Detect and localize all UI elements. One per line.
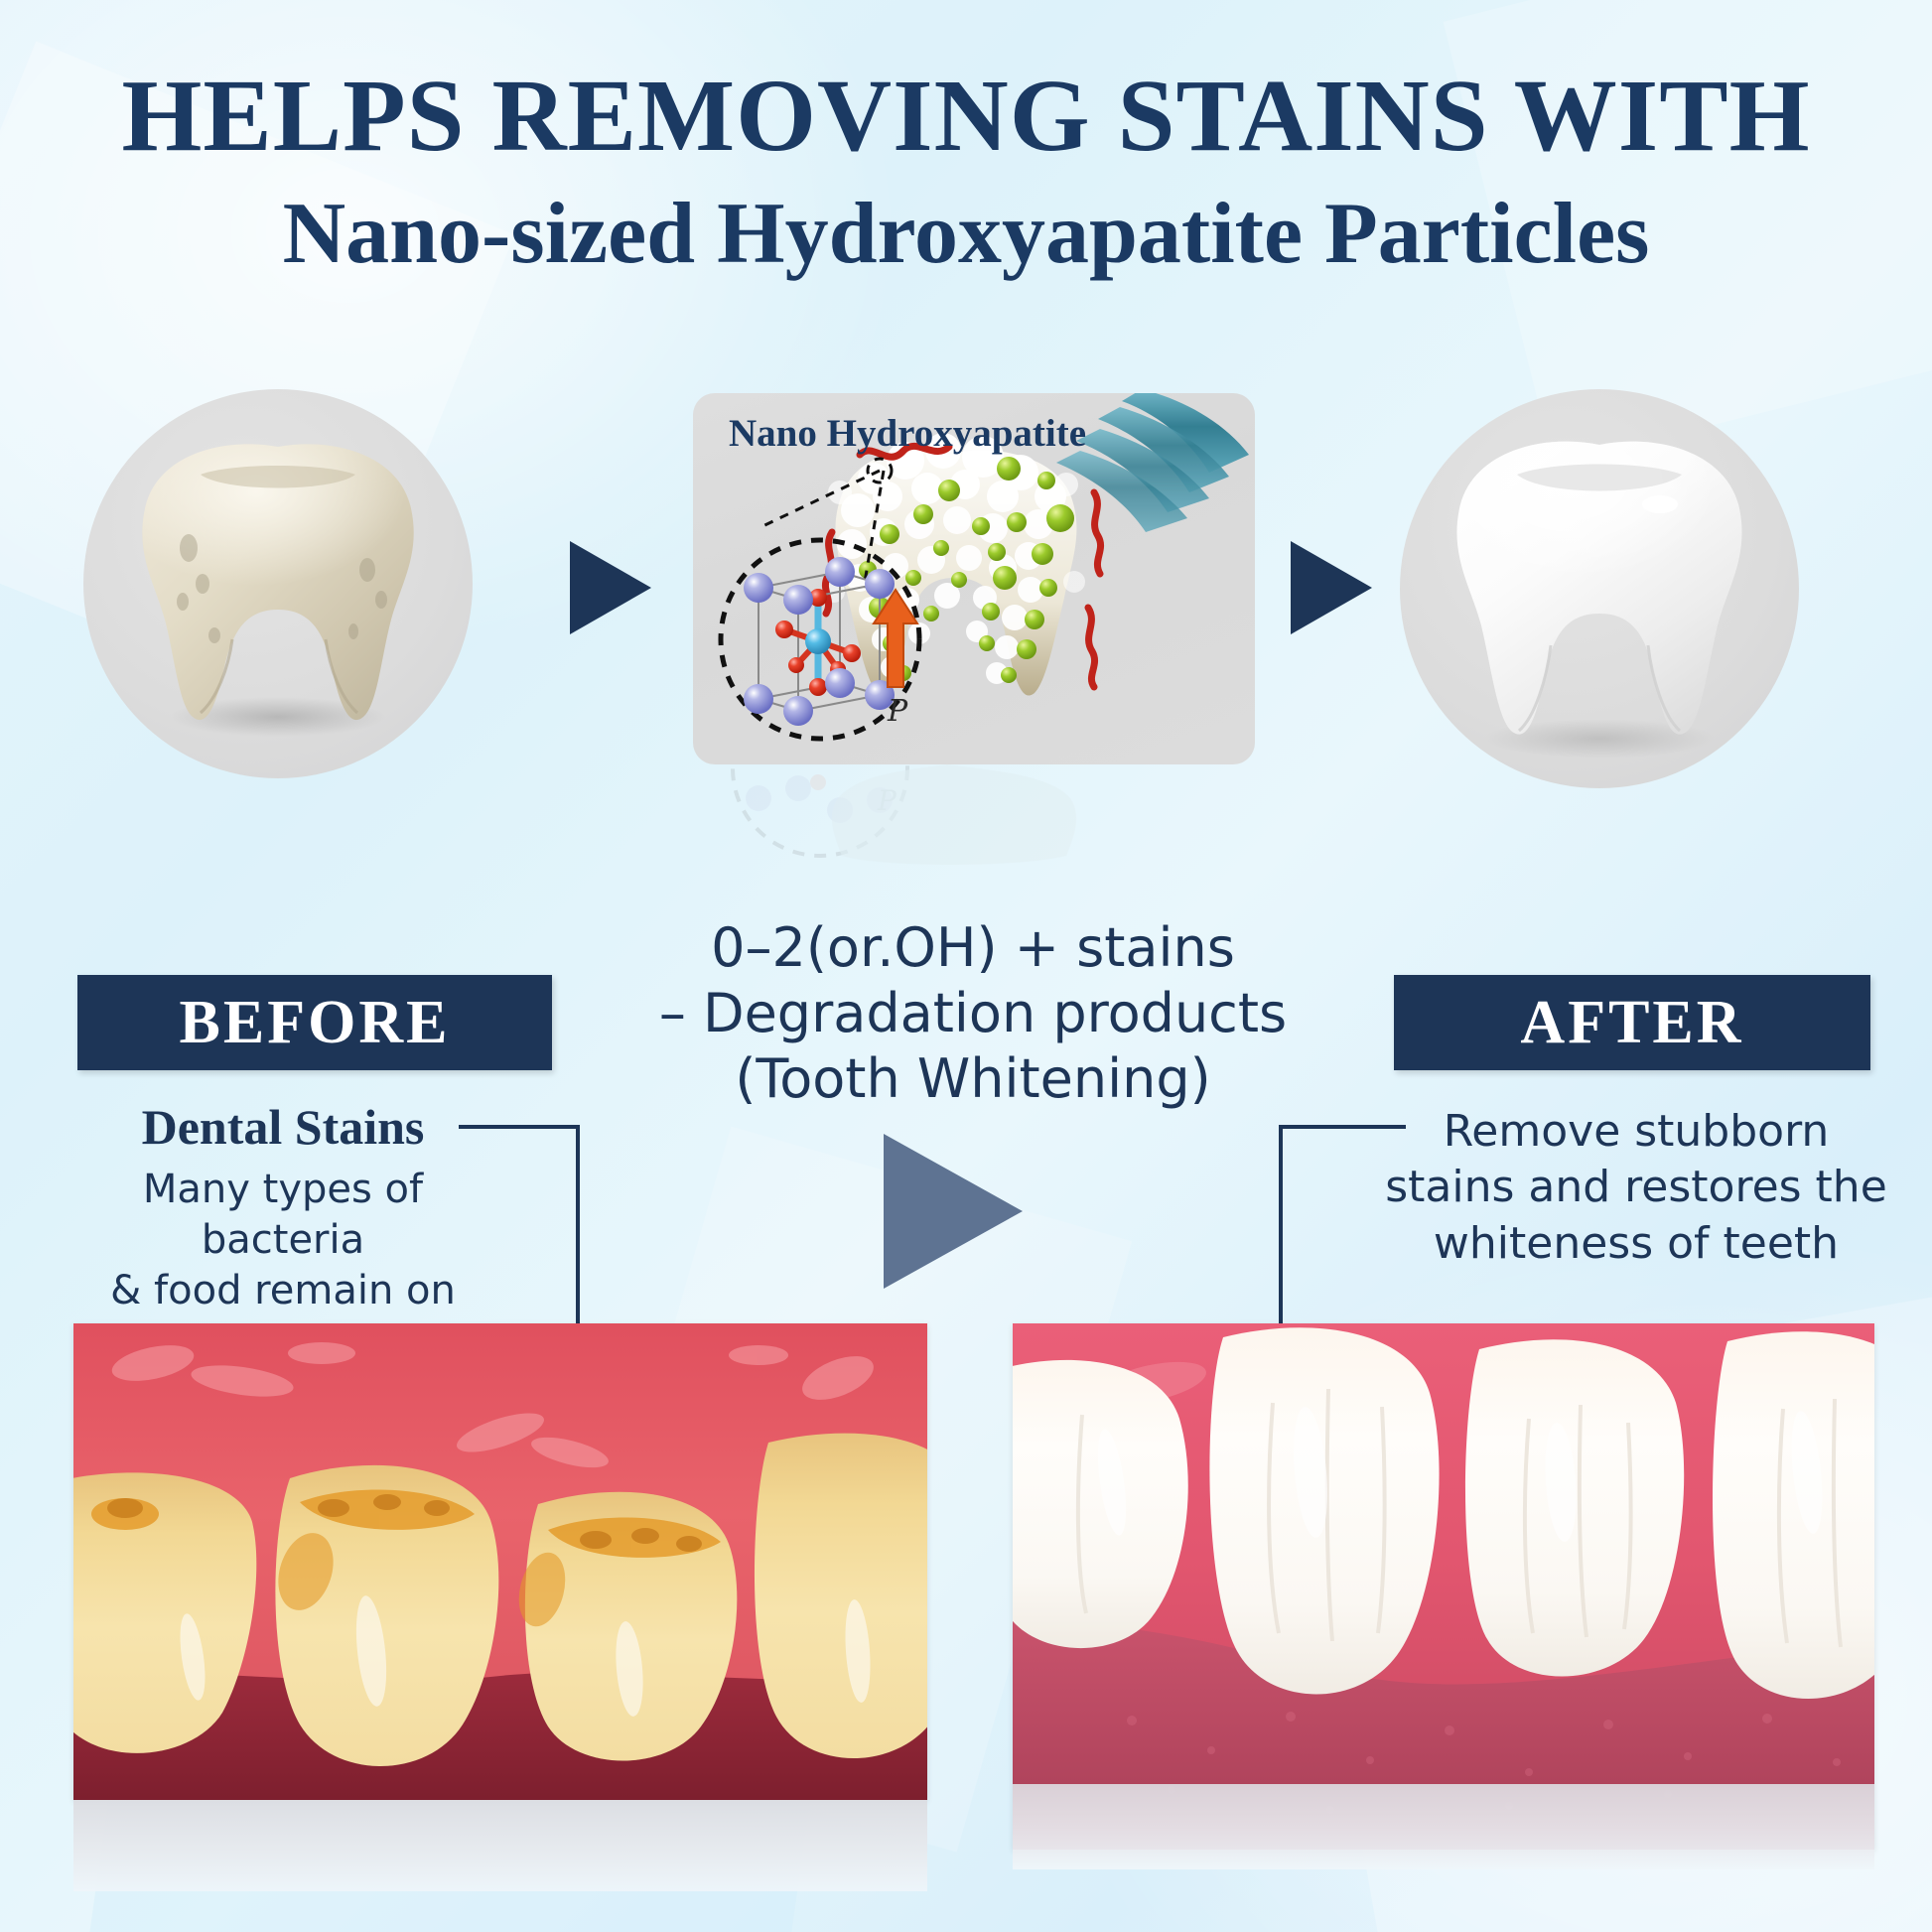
arrow-right-icon-transform xyxy=(884,1134,1023,1289)
after-callout: Remove stubborn stains and restores the … xyxy=(1378,1104,1894,1272)
dental-stains-headline: Dental Stains xyxy=(60,1100,506,1155)
formula-line-2: – Degradation products xyxy=(616,981,1330,1046)
white-tooth-circle xyxy=(1400,389,1799,788)
tooth-white-icon xyxy=(1400,389,1799,788)
stained-teeth-photo-illustration xyxy=(73,1323,927,1800)
infographic-canvas: HELPS REMOVING STAINS WITH Nano-sized Hy… xyxy=(0,0,1932,1932)
formula-line-1: 0–2(or.OH) + stains xyxy=(616,915,1330,981)
nano-hydroxyapatite-diagram: P Nano Hydroxyapatite xyxy=(693,393,1255,764)
before-leader-line-vertical xyxy=(576,1125,580,1261)
after-banner-label: AFTER xyxy=(1520,988,1743,1058)
page-title: HELPS REMOVING STAINS WITH Nano-sized Hy… xyxy=(0,62,1932,284)
stained-tooth-circle xyxy=(83,389,473,778)
before-photo-reflection xyxy=(73,1800,927,1891)
polarization-label: P xyxy=(887,694,908,729)
after-banner: AFTER xyxy=(1394,975,1870,1070)
white-teeth-photo-illustration xyxy=(1013,1323,1874,1850)
before-body-line-2: & food remain on xyxy=(60,1266,506,1316)
after-body-line-3: whiteness of teeth xyxy=(1378,1216,1894,1272)
after-body-line-1: Remove stubborn xyxy=(1378,1104,1894,1160)
before-teeth-photo xyxy=(73,1323,927,1800)
before-leader-line-horizontal xyxy=(459,1125,580,1129)
before-body-line-1: Many types of bacteria xyxy=(60,1165,506,1266)
nano-hydroxyapatite-label: Nano Hydroxyapatite xyxy=(729,411,1086,456)
before-banner: BEFORE xyxy=(77,975,552,1070)
after-photo-reflection xyxy=(1013,1784,1874,1869)
arrow-right-icon-step-2 xyxy=(1291,541,1372,634)
diagram-reflection: P xyxy=(693,764,1255,872)
arrow-right-icon-step-1 xyxy=(570,541,651,634)
title-line-2: Nano-sized Hydroxyapatite Particles xyxy=(0,184,1932,284)
after-teeth-photo xyxy=(1013,1323,1874,1850)
after-body-line-2: stains and restores the xyxy=(1378,1160,1894,1215)
formula-line-3: (Tooth Whitening) xyxy=(616,1046,1330,1112)
svg-text:P: P xyxy=(877,784,897,817)
before-banner-label: BEFORE xyxy=(180,988,451,1058)
after-leader-line-vertical xyxy=(1279,1125,1283,1261)
after-leader-line-horizontal xyxy=(1279,1125,1406,1129)
formula-text: 0–2(or.OH) + stains – Degradation produc… xyxy=(616,915,1330,1112)
tooth-stained-icon xyxy=(83,389,473,778)
title-line-1: HELPS REMOVING STAINS WITH xyxy=(0,62,1932,170)
